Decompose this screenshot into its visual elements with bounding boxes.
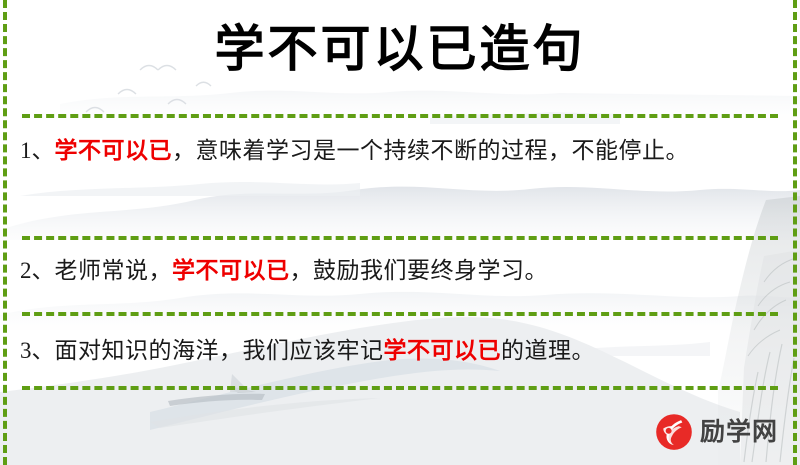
divider-3 [22, 312, 778, 316]
flame-swirl-icon [655, 413, 693, 451]
site-logo-text: 励学网 [700, 420, 778, 445]
sentence-entry: 1、学不可以已，意味着学习是一个持续不断的过程，不能停止。 [20, 131, 772, 171]
border-left-dashed [3, 0, 7, 465]
sentence-entry: 2、老师常说，学不可以已，鼓励我们要终身学习。 [20, 251, 772, 291]
entry-number: 1、 [20, 138, 55, 163]
entry-text-before: 面对知识的海洋，我们应该牢记 [55, 338, 384, 363]
divider-4 [22, 386, 778, 390]
entry-text-before: 老师常说， [55, 258, 173, 283]
divider-1 [22, 114, 778, 118]
entry-text-after: ，鼓励我们要终身学习。 [290, 258, 549, 283]
border-right-dashed [793, 0, 797, 465]
page-title: 学不可以已造句 [0, 18, 800, 81]
entry-text-after: 的道理。 [501, 338, 595, 363]
sentence-entry: 3、面对知识的海洋，我们应该牢记学不可以已的道理。 [20, 331, 772, 371]
entry-keyword: 学不可以已 [384, 338, 502, 363]
entry-keyword: 学不可以已 [172, 258, 290, 283]
entry-number: 2、 [20, 258, 55, 283]
entry-text-after: ，意味着学习是一个持续不断的过程，不能停止。 [172, 138, 689, 163]
entry-number: 3、 [20, 338, 55, 363]
sentence-card: 学不可以已造句 1、学不可以已，意味着学习是一个持续不断的过程，不能停止。 2、… [0, 0, 800, 465]
site-logo: 励学网 [655, 413, 778, 451]
divider-2 [22, 236, 778, 240]
entry-keyword: 学不可以已 [55, 138, 173, 163]
